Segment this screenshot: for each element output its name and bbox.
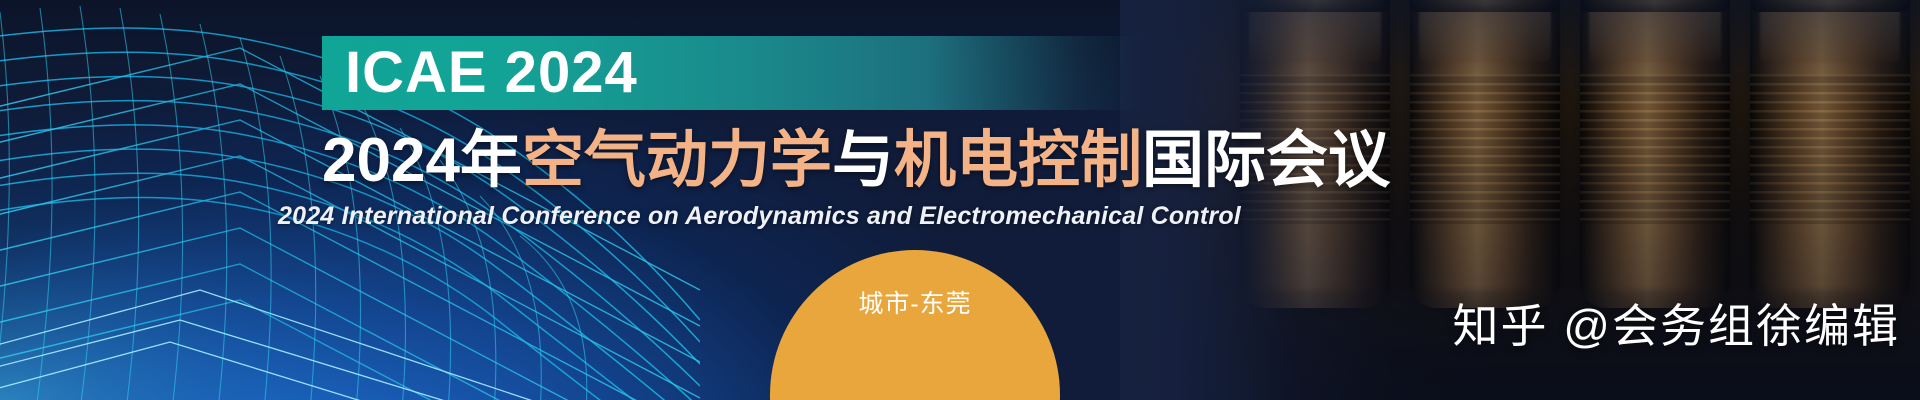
title-segment-aerodynamics: 空气动力学 (522, 126, 832, 195)
icae-badge-label: ICAE 2024 (345, 40, 638, 106)
title-segment-year: 2024年 (322, 126, 522, 195)
conference-banner: ICAE 2024 2024年空气动力学与机电控制国际会议 2024 Inter… (0, 0, 1920, 400)
title-segment-and: 与 (832, 126, 894, 195)
page-subtitle-en: 2024 International Conference on Aerodyn… (278, 202, 1241, 231)
page-title-cn: 2024年空气动力学与机电控制国际会议 (322, 126, 1390, 196)
zhihu-watermark: 知乎 @会务组徐编辑 (1453, 290, 1900, 356)
title-segment-conference: 国际会议 (1142, 126, 1390, 195)
city-badge-label: 城市-东莞 (858, 284, 971, 320)
title-segment-electromechanical: 机电控制 (894, 126, 1142, 195)
